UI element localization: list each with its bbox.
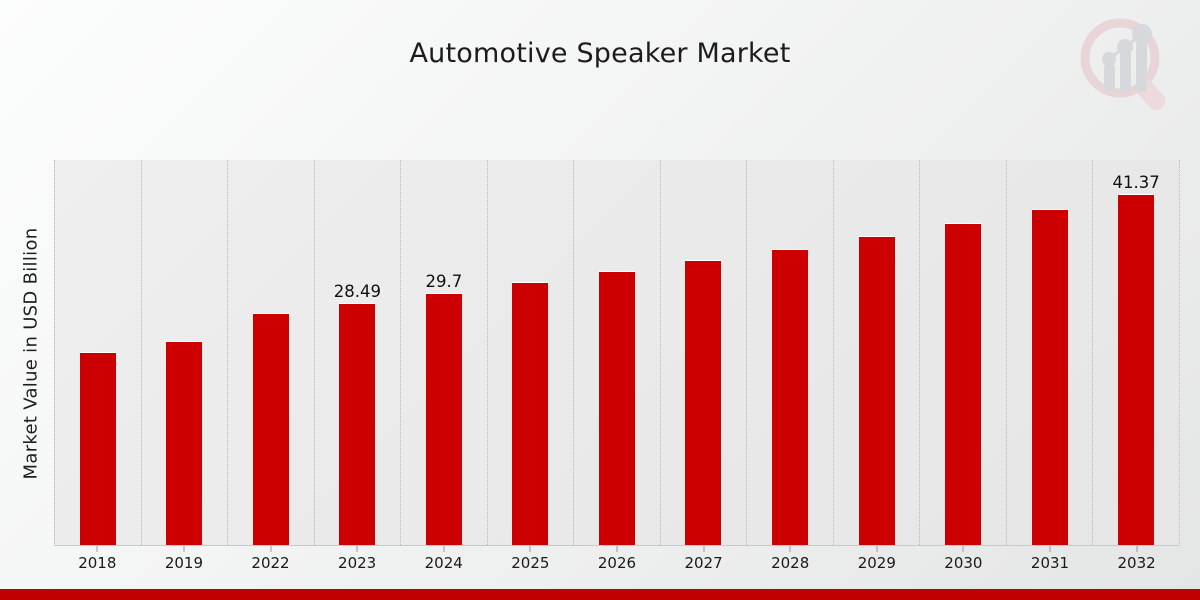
- tick-mark: [530, 546, 531, 552]
- plot-area: 28.4929.741.37: [54, 160, 1180, 546]
- bar-cell: [661, 160, 748, 545]
- x-axis-tick: 2022: [227, 546, 314, 580]
- bar-cell: [55, 160, 142, 545]
- market-research-magnifier-logo: [1068, 12, 1180, 116]
- bar-value-label: 41.37: [1113, 173, 1160, 192]
- bar[interactable]: 28.49: [339, 303, 375, 545]
- x-axis-tick-label: 2023: [314, 554, 401, 572]
- bar[interactable]: [945, 223, 981, 545]
- bar[interactable]: [1032, 209, 1068, 545]
- x-axis-tick: 2023: [314, 546, 401, 580]
- bar-cell: 41.37: [1093, 160, 1179, 545]
- bar-cell: 28.49: [315, 160, 402, 545]
- chart-title: Automotive Speaker Market: [0, 38, 1200, 69]
- tick-mark: [790, 546, 791, 552]
- bar-value-label: 28.49: [334, 282, 381, 301]
- bottom-accent-strip: [0, 589, 1200, 600]
- x-axis-tick-label: 2026: [574, 554, 661, 572]
- bar[interactable]: [253, 313, 289, 545]
- bar-cell: [747, 160, 834, 545]
- chart-container: Automotive Speaker Market Market Value i…: [0, 0, 1200, 600]
- x-axis-tick-label: 2031: [1007, 554, 1094, 572]
- x-axis-tick-label: 2018: [54, 554, 141, 572]
- bar[interactable]: [599, 271, 635, 545]
- x-axis-tick: 2027: [660, 546, 747, 580]
- bar[interactable]: [80, 352, 116, 545]
- x-axis-tick-row: 2018201920222023202420252026202720282029…: [54, 546, 1180, 580]
- bar[interactable]: [685, 260, 721, 545]
- tick-mark: [97, 546, 98, 552]
- bar-cell: [142, 160, 229, 545]
- x-axis-tick: 2028: [747, 546, 834, 580]
- bar[interactable]: 41.37: [1118, 194, 1154, 545]
- bar-cell: [488, 160, 575, 545]
- bar[interactable]: [859, 236, 895, 545]
- x-axis-tick: 2032: [1093, 546, 1180, 580]
- bar-cell: [228, 160, 315, 545]
- tick-mark: [443, 546, 444, 552]
- bar[interactable]: [166, 341, 202, 545]
- x-axis-tick: 2029: [833, 546, 920, 580]
- x-axis-tick: 2026: [574, 546, 661, 580]
- bar[interactable]: 29.7: [426, 293, 462, 545]
- tick-mark: [1136, 546, 1137, 552]
- x-axis-tick-label: 2024: [400, 554, 487, 572]
- tick-mark: [963, 546, 964, 552]
- bar-cell: [834, 160, 921, 545]
- bars-row: 28.4929.741.37: [55, 160, 1179, 545]
- x-axis-tick-label: 2019: [141, 554, 228, 572]
- x-axis-tick: 2025: [487, 546, 574, 580]
- tick-mark: [1050, 546, 1051, 552]
- tick-mark: [270, 546, 271, 552]
- tick-mark: [183, 546, 184, 552]
- x-axis-tick: 2018: [54, 546, 141, 580]
- x-axis-tick: 2030: [920, 546, 1007, 580]
- x-axis-tick: 2019: [141, 546, 228, 580]
- bar-cell: 29.7: [401, 160, 488, 545]
- x-axis-tick-label: 2025: [487, 554, 574, 572]
- tick-mark: [616, 546, 617, 552]
- x-axis-tick: 2031: [1007, 546, 1094, 580]
- x-axis-tick: 2024: [400, 546, 487, 580]
- x-axis-tick-label: 2029: [833, 554, 920, 572]
- x-axis-tick-label: 2032: [1093, 554, 1180, 572]
- bar-cell: [1007, 160, 1094, 545]
- x-axis-tick-label: 2027: [660, 554, 747, 572]
- bar[interactable]: [772, 249, 808, 545]
- x-axis-tick-label: 2028: [747, 554, 834, 572]
- tick-mark: [703, 546, 704, 552]
- bar-value-label: 29.7: [426, 272, 463, 291]
- tick-mark: [357, 546, 358, 552]
- tick-mark: [876, 546, 877, 552]
- bar-cell: [920, 160, 1007, 545]
- bar-cell: [574, 160, 661, 545]
- x-axis-tick-label: 2030: [920, 554, 1007, 572]
- bar[interactable]: [512, 282, 548, 545]
- x-axis-tick-label: 2022: [227, 554, 314, 572]
- y-axis-title: Market Value in USD Billion: [21, 154, 42, 554]
